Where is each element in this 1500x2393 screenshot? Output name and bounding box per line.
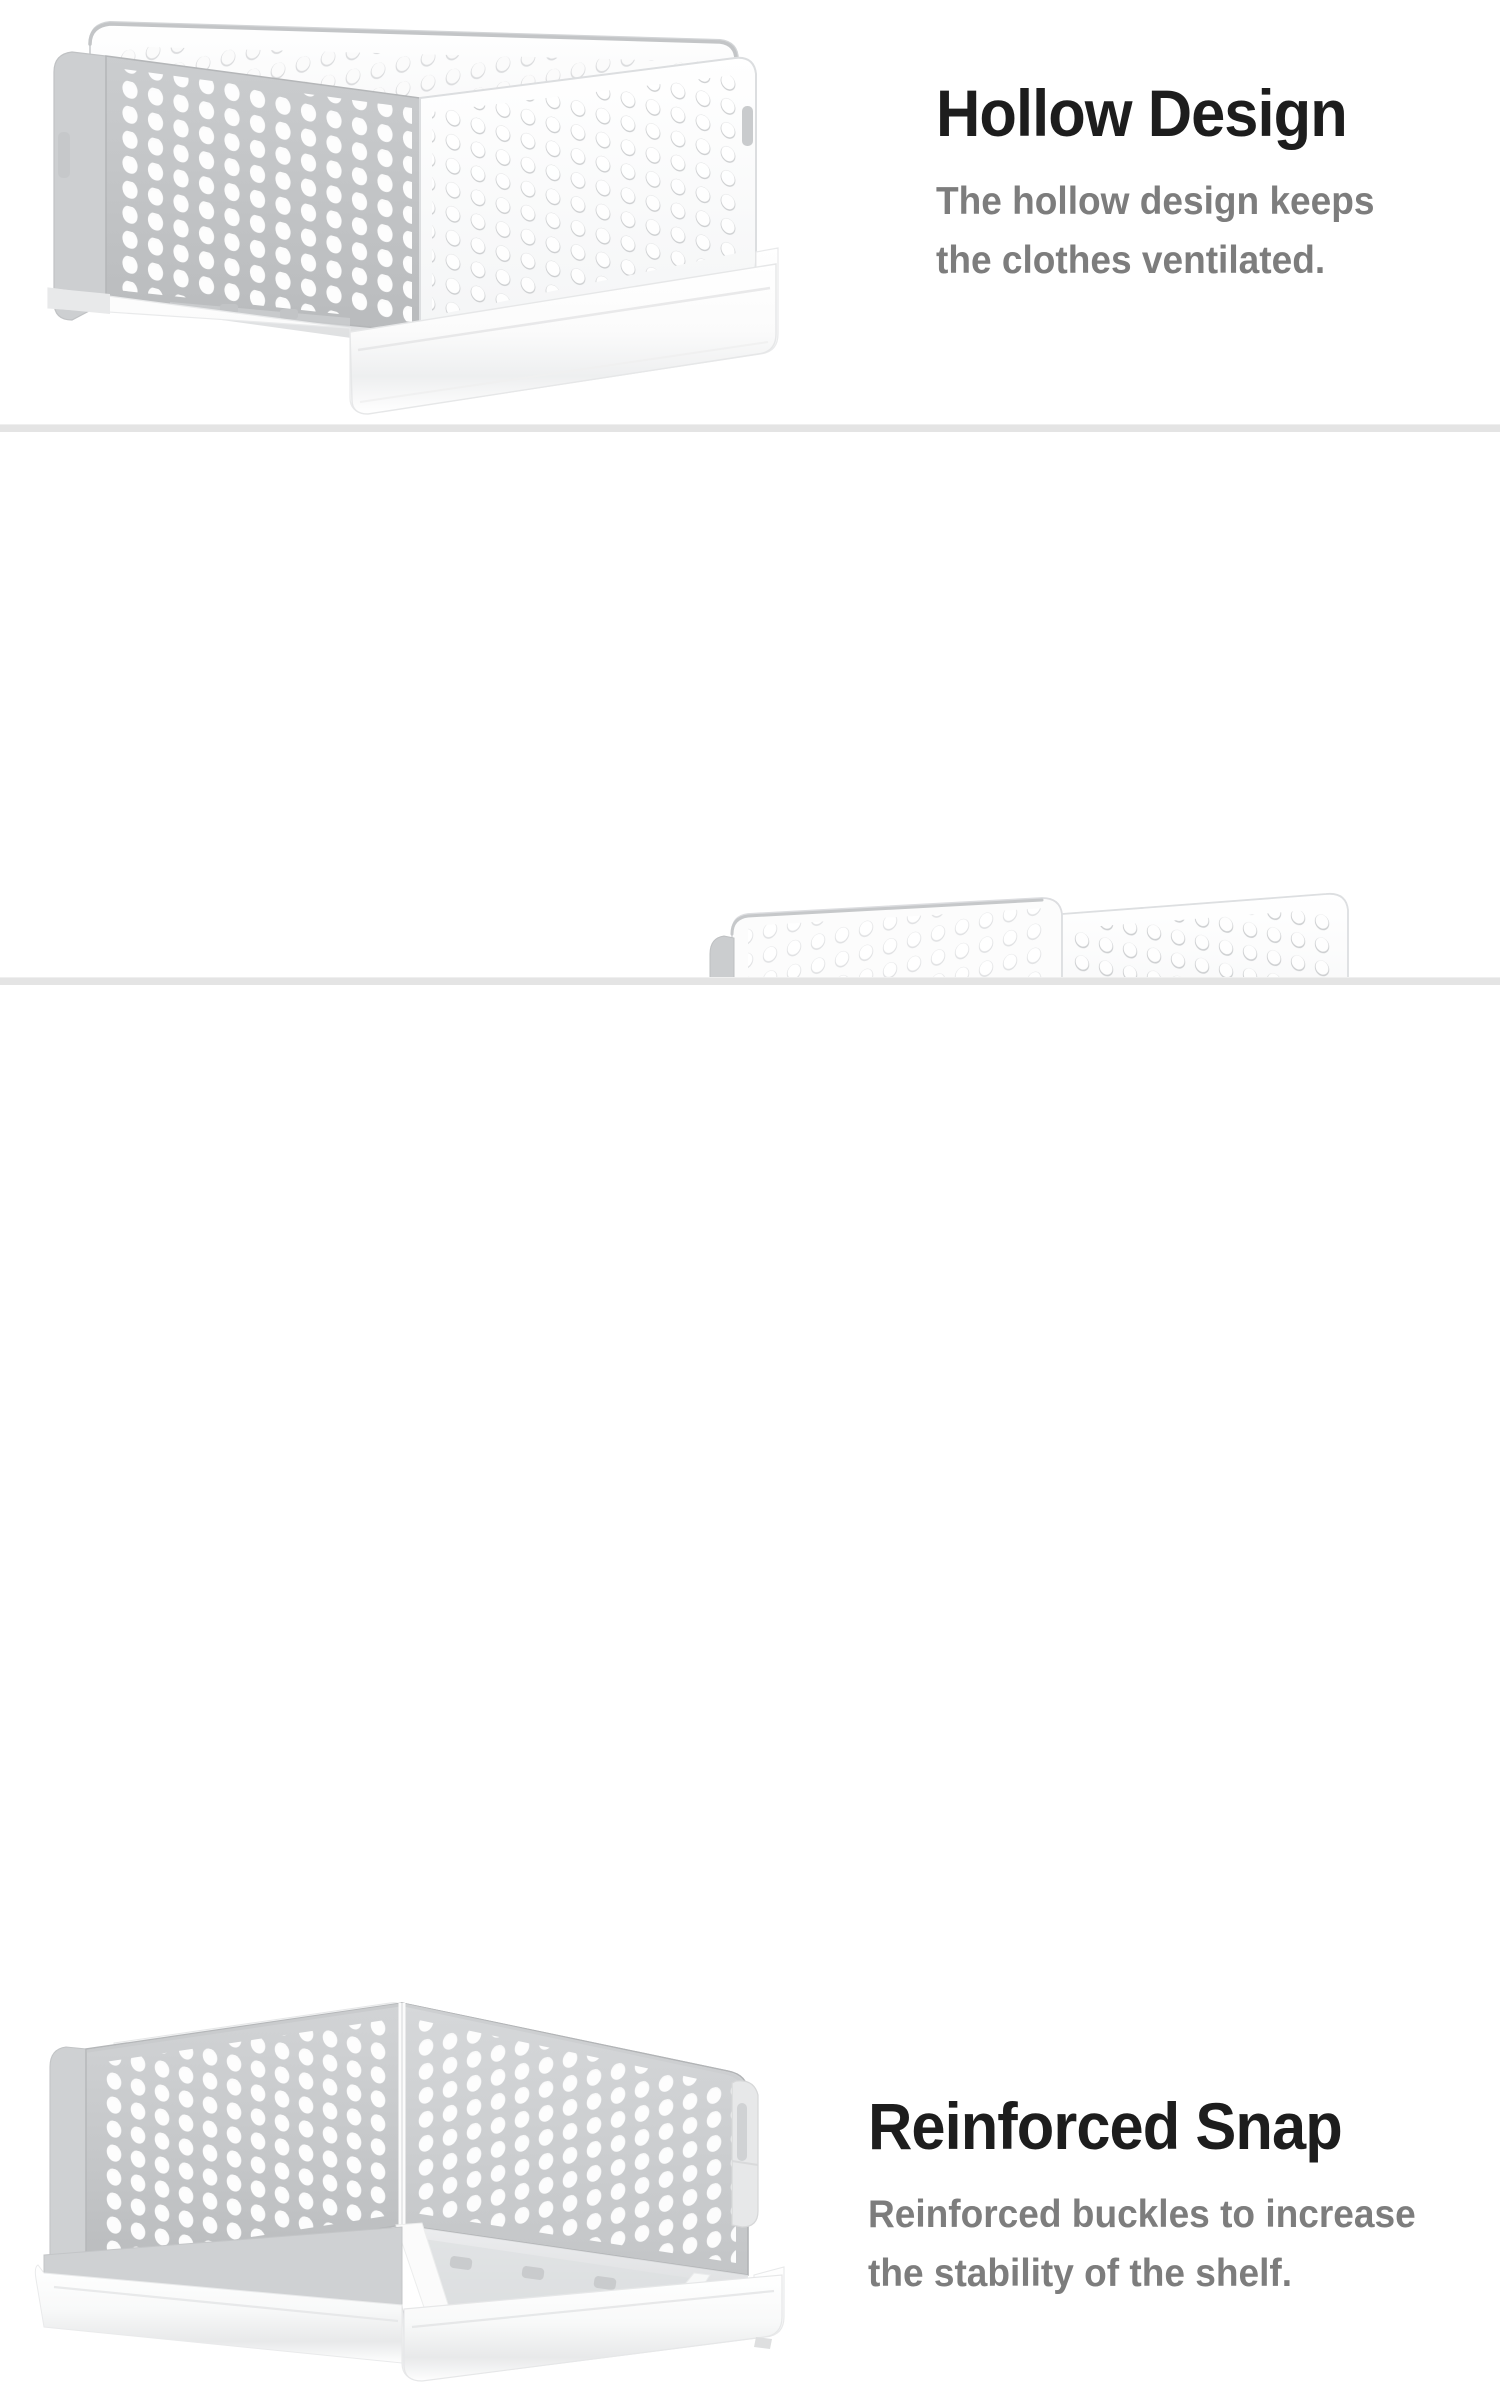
panel-body-line: The hollow design keeps xyxy=(936,180,1375,223)
basket-left-panel xyxy=(54,52,420,332)
panel-title: Hollow Design xyxy=(936,80,1443,146)
feature-panel-slide-rails: Slide Rails Stable stacking and easy sli… xyxy=(0,432,1500,978)
feature-panel-hollow-design: Hollow Design The hollow design keeps th… xyxy=(0,0,1500,425)
infographic-page: Hollow Design The hollow design keeps th… xyxy=(0,0,1500,1410)
product-image-reinforced-snap xyxy=(10,1975,830,2393)
panel-body: The hollow design keeps the clothes vent… xyxy=(936,172,1454,291)
feature-text-hollow-design: Hollow Design The hollow design keeps th… xyxy=(936,80,1481,291)
panel-body-line: the stability of the shelf. xyxy=(868,2252,1292,2295)
panel-body-line: the clothes ventilated. xyxy=(936,239,1325,282)
front-buckle-clip xyxy=(742,106,753,146)
product-image-hollow-design xyxy=(20,2,810,422)
panel-body: Reinforced buckles to increase the stabi… xyxy=(868,2185,1457,2304)
reinforced-buckle-clip xyxy=(732,2081,758,2227)
side-buckle-clip xyxy=(58,132,70,178)
panel-body-line: Reinforced buckles to increase xyxy=(868,2193,1416,2236)
panel-title: Reinforced Snap xyxy=(868,2093,1445,2159)
feature-text-reinforced-snap: Reinforced Snap Reinforced buckles to in… xyxy=(868,2093,1488,2304)
feature-panel-reinforced-snap: Reinforced Snap Reinforced buckles to in… xyxy=(0,985,1500,1410)
